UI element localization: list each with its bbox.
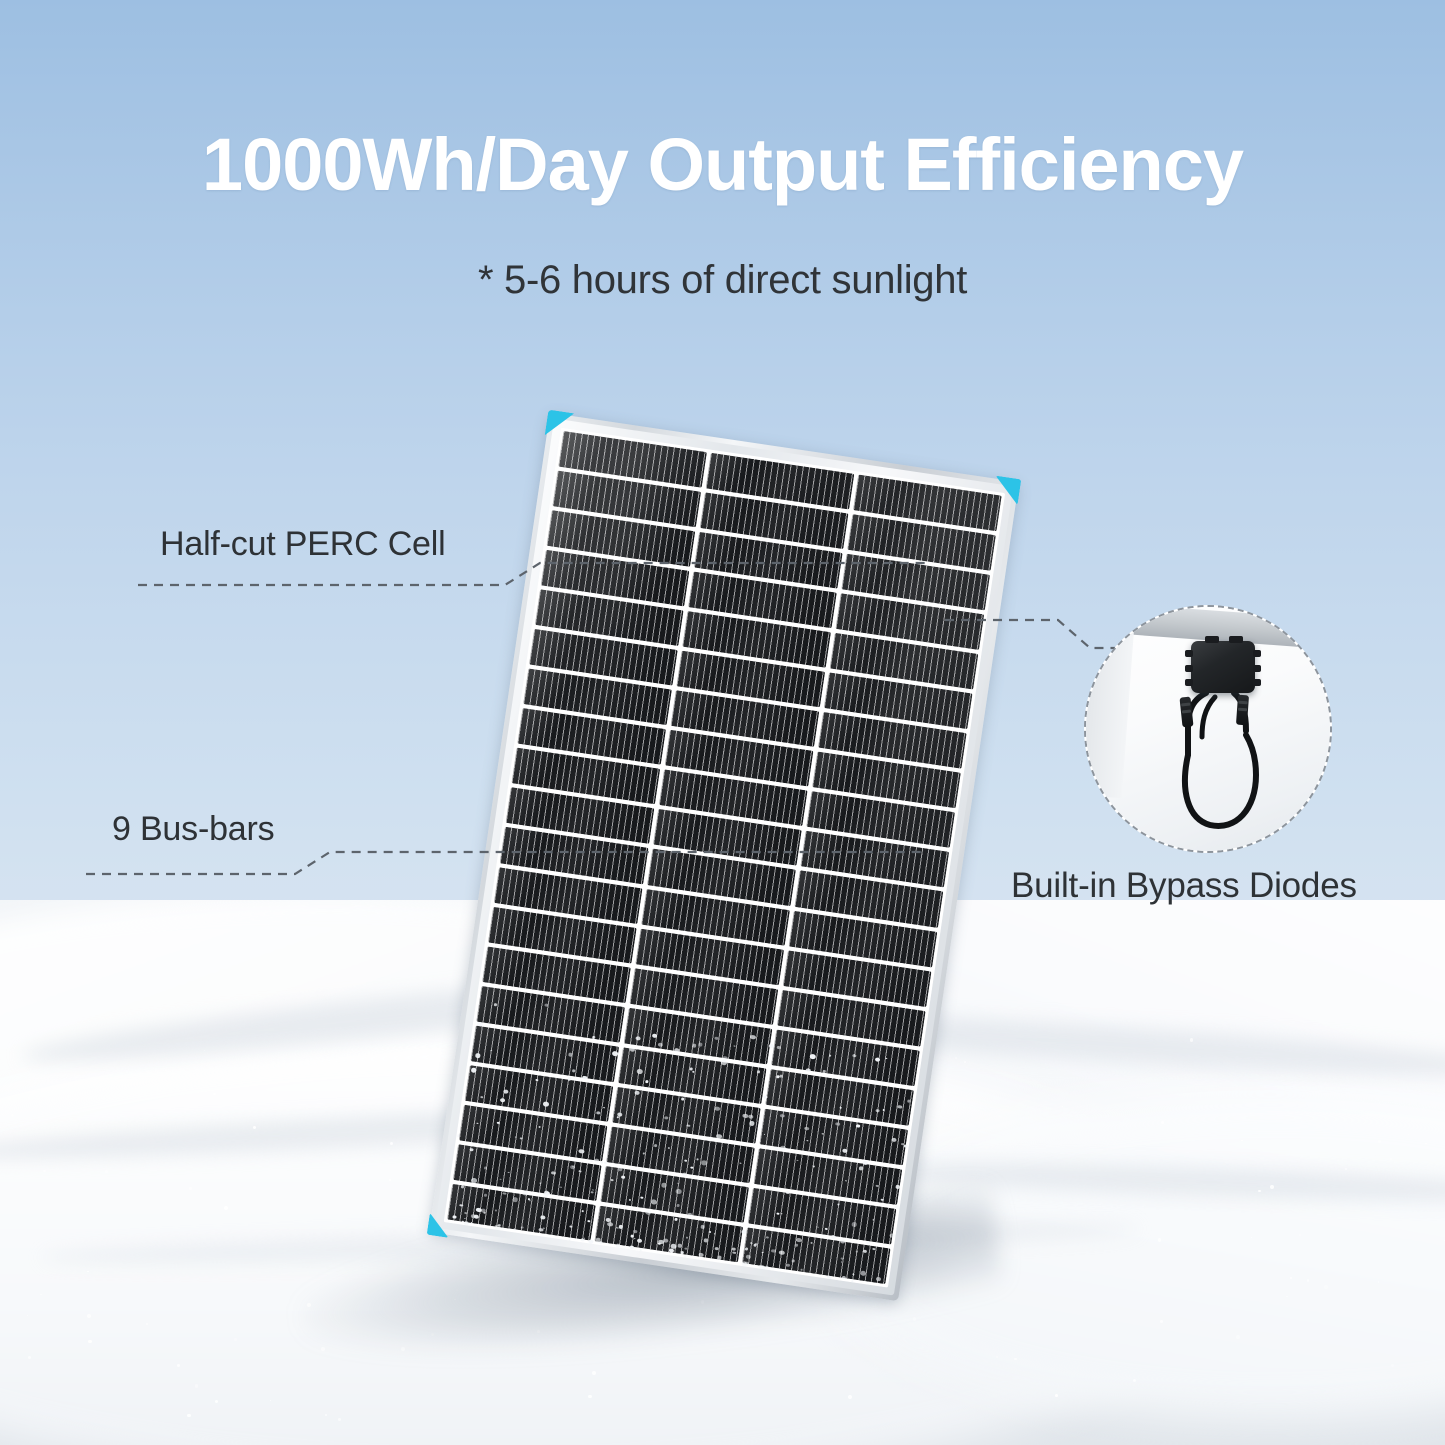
junction-box-icon <box>1191 641 1255 693</box>
callout-label-built-in-bypass-diodes: Built-in Bypass Diodes <box>1011 866 1357 906</box>
mc4-connector-icon <box>1236 695 1249 726</box>
page-title: 1000Wh/Day Output Efficiency <box>0 128 1445 202</box>
callout-label-half-cut-perc-cell: Half-cut PERC Cell <box>160 525 445 564</box>
callout-label-nine-bus-bars: 9 Bus-bars <box>112 810 274 849</box>
page-subtitle: * 5-6 hours of direct sunlight <box>0 258 1445 303</box>
junction-box-photo <box>1084 605 1332 853</box>
infographic-canvas: 1000Wh/Day Output Efficiency * 5-6 hours… <box>0 0 1445 1445</box>
junction-box-inset <box>1084 605 1332 853</box>
